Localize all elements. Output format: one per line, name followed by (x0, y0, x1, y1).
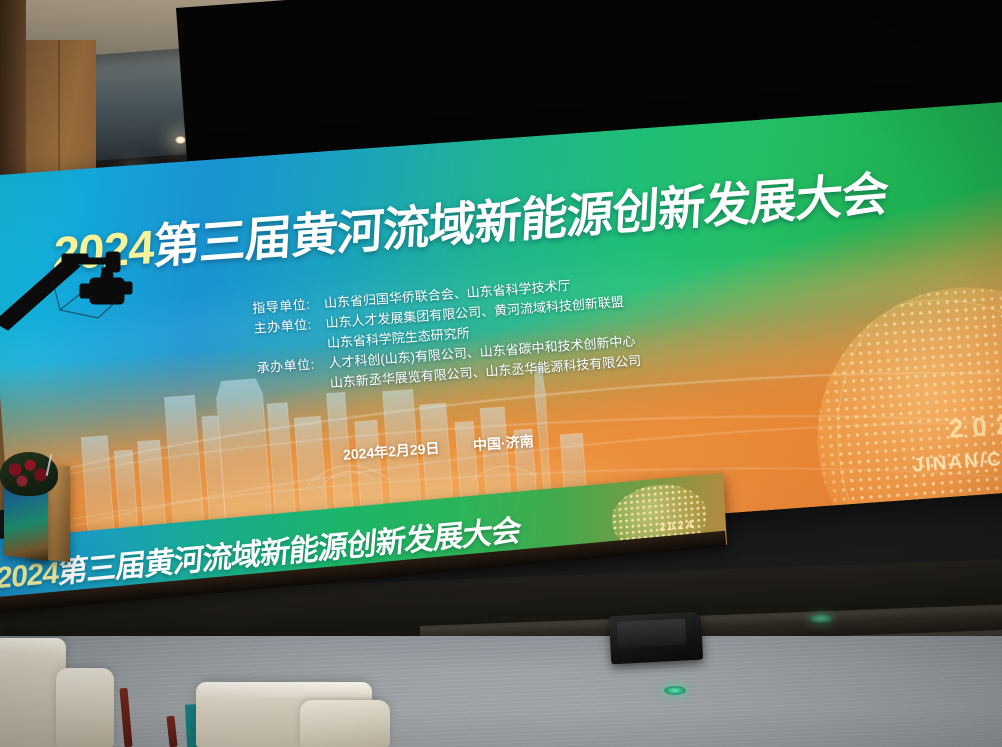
chair-armrest-right (300, 700, 390, 747)
chair-armrest-left (56, 668, 114, 747)
spacer (444, 451, 470, 453)
camera-jib-icon (0, 234, 144, 344)
podium (4, 452, 80, 560)
chair-headrest (0, 638, 66, 654)
front-banner-title-year: 2024 (0, 556, 60, 595)
floor-led-marker (664, 686, 686, 695)
led-year-mark: 2024 (948, 407, 1002, 445)
stage-monitor-speaker (609, 612, 703, 665)
chair-headrest (196, 682, 372, 698)
event-location: 中国·济南 (472, 433, 534, 453)
carpet-texture (0, 636, 1002, 747)
hall-floor-carpet (0, 636, 1002, 747)
downlight (175, 136, 186, 144)
floor-led-marker (810, 614, 832, 623)
conference-hall-photo: 2024第三届黄河流域新能源创新发展大会 指导单位: 山东省归国华侨联合会、山东… (0, 0, 1002, 747)
